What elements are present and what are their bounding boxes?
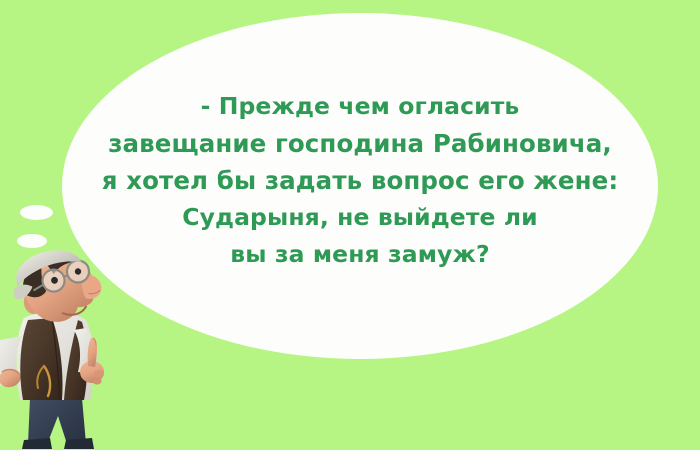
bubble-line-5: вы за меня замуж? <box>62 236 658 273</box>
character-head <box>5 248 108 332</box>
speech-bubble-text: - Прежде чем огласить завещание господин… <box>62 88 658 273</box>
bubble-line-1: - Прежде чем огласить <box>62 88 658 125</box>
character-trousers <box>22 398 94 449</box>
thought-dot-large <box>20 205 53 220</box>
thought-dot-medium <box>17 234 47 248</box>
bubble-line-2: завещание господина Рабиновича, <box>62 125 658 162</box>
character-illustration <box>0 248 126 450</box>
bubble-line-4: Сударыня, не выйдете ли <box>62 199 658 236</box>
bubble-line-3: я хотел бы задать вопрос его жене: <box>62 162 658 199</box>
joke-card: - Прежде чем огласить завещание господин… <box>0 0 700 450</box>
